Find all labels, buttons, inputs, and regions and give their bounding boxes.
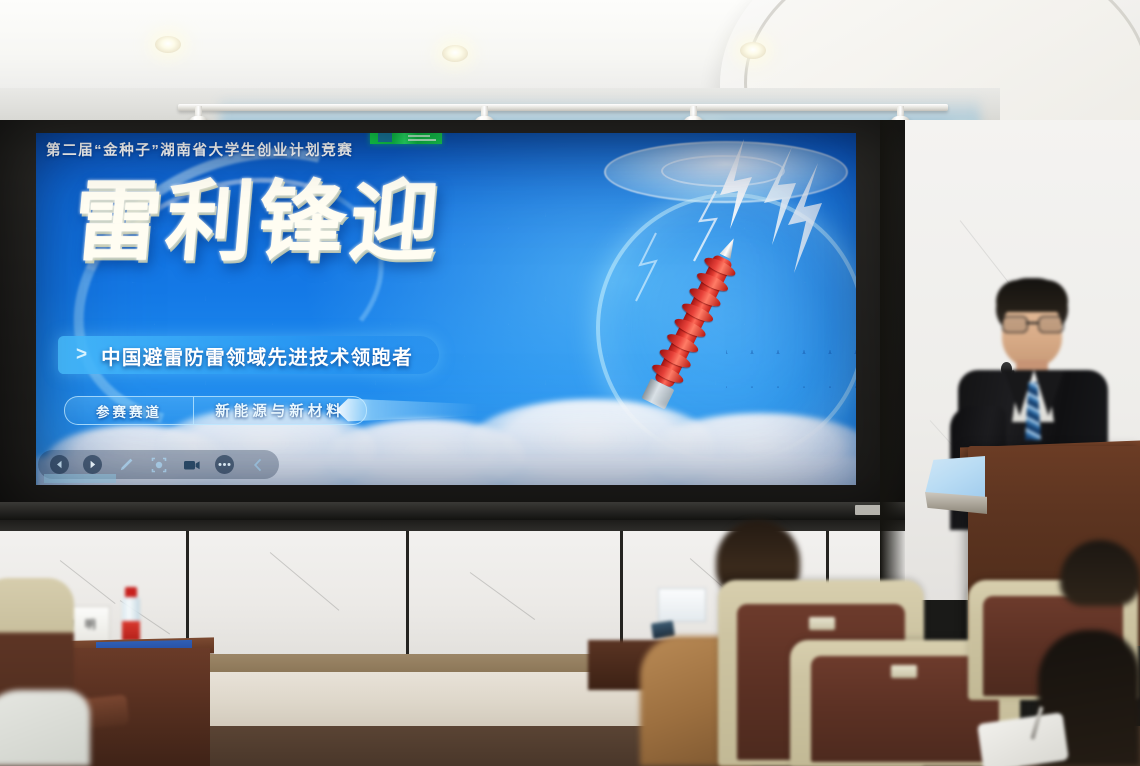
- downlight-1: [155, 36, 181, 53]
- conference-presentation-photo: 第二届“金种子”湖南省大学生创业计划竞赛 雷利锋迎 > 中国避雷防雷领域先进技术…: [0, 0, 1140, 766]
- light-track-rail-upper: [178, 104, 948, 111]
- screen-sensor-plate: [855, 505, 881, 515]
- downlight-3: [740, 42, 766, 59]
- audience-person-left-shoulder: [0, 690, 90, 766]
- downlight-2: [442, 45, 468, 62]
- screen-right-dark-edge: [880, 120, 908, 590]
- presenter-glasses: [1002, 316, 1062, 331]
- marble-panel-seam-2: [406, 531, 409, 661]
- center-desk-namecard: [658, 588, 706, 622]
- screen-bottom-rail: [0, 502, 908, 520]
- presenter-hair-front: [996, 280, 1068, 312]
- screen-inner-shadow: [0, 120, 908, 520]
